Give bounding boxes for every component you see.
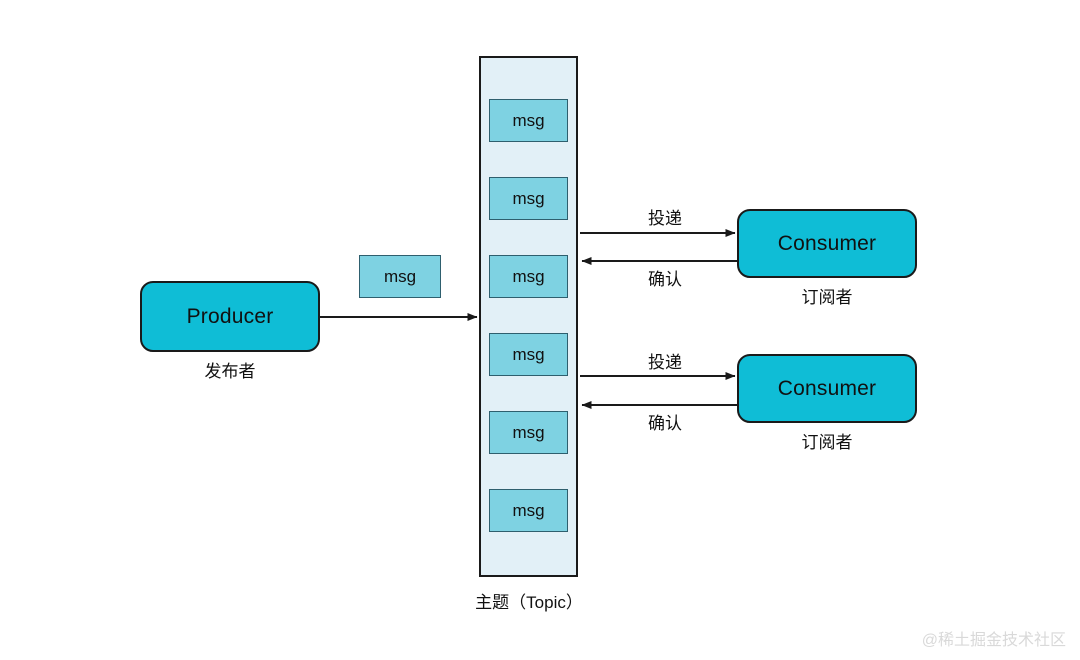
consumer-caption-1: 订阅者 (737, 283, 917, 308)
consumer-node-2[interactable]: Consumer (737, 354, 917, 423)
diagram-canvas: msg msg msg msg msg msg 主题（Topic） Produc… (0, 0, 1080, 660)
producer-caption: 发布者 (140, 357, 320, 382)
edge-label-ack-1: 确认 (605, 265, 725, 290)
topic-message[interactable]: msg (489, 411, 568, 454)
topic-caption: 主题（Topic） (429, 588, 629, 613)
edge-label-deliver-1: 投递 (605, 204, 725, 229)
edge-label-deliver-2: 投递 (605, 348, 725, 373)
topic-message[interactable]: msg (489, 177, 568, 220)
topic-message[interactable]: msg (489, 99, 568, 142)
topic-message[interactable]: msg (489, 489, 568, 532)
edge-label-ack-2: 确认 (605, 409, 725, 434)
consumer-caption-2: 订阅者 (737, 428, 917, 453)
producer-node[interactable]: Producer (140, 281, 320, 352)
inflight-message[interactable]: msg (359, 255, 441, 298)
topic-message[interactable]: msg (489, 333, 568, 376)
watermark: @稀土掘金技术社区 (922, 626, 1066, 650)
topic-message[interactable]: msg (489, 255, 568, 298)
consumer-node-1[interactable]: Consumer (737, 209, 917, 278)
